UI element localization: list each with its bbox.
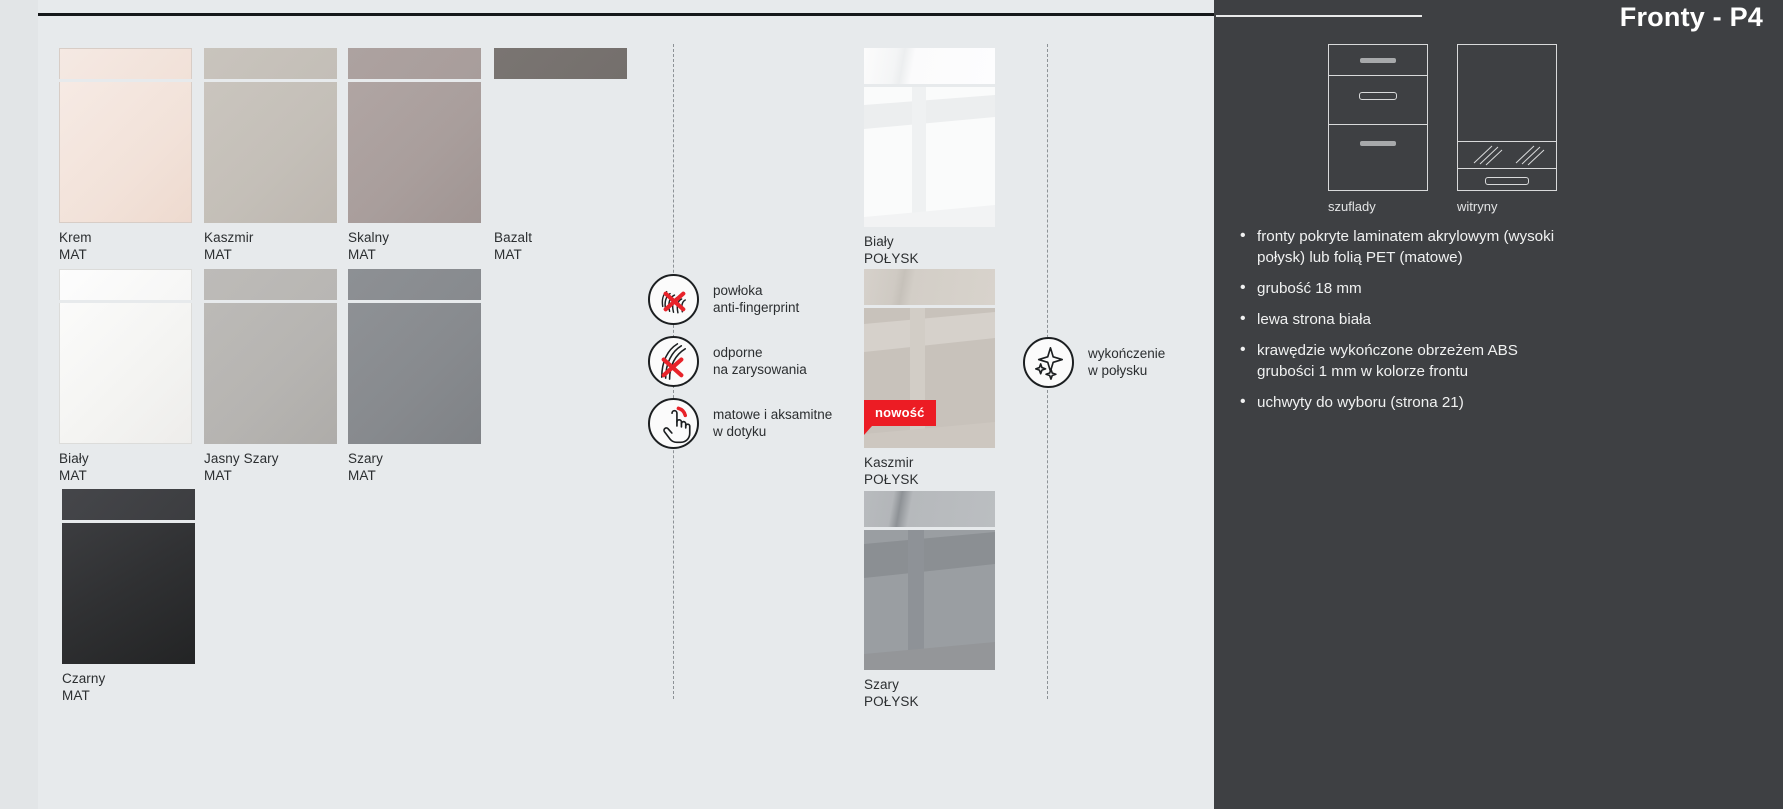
door-render: nowość [864,269,995,448]
diagram-caption: witryny [1457,199,1497,214]
glass-shine-icon [1458,141,1558,168]
drawer-front [348,269,481,300]
handle-bar-hollow [1359,92,1397,100]
swatch-caption: Krem MAT [59,230,192,263]
drawer-front [348,48,481,79]
cabinet-outline [1328,44,1428,191]
swatch-jasny-szary-mat[interactable]: Jasny Szary MAT [204,269,337,484]
door-front [62,523,195,664]
swatch-czarny-mat[interactable]: Czarny MAT [62,489,195,704]
spec-bullet-list: fronty pokryte laminatem akrylowym (wyso… [1238,226,1568,423]
swatch-caption: Jasny Szary MAT [204,451,337,484]
sparkle-icon [1023,337,1074,388]
feature-anti-fingerprint: powłoka anti-fingerprint [648,274,799,325]
door-render [864,491,995,670]
list-item: uchwyty do wyboru (strona 21) [1238,392,1568,413]
spec-list: fronty pokryte laminatem akrylowym (wyso… [1238,226,1568,413]
swatch-caption: Biały POŁYSK [864,234,995,267]
door-render [62,489,195,664]
touch-hand-icon [648,398,699,449]
swatch-caption: Skalny MAT [348,230,481,263]
swatch-szary-mat[interactable]: Szary MAT [348,269,481,484]
door-front [494,82,627,223]
feature-label: matowe i aksamitne w dotyku [713,407,832,440]
diagram-caption: szuflady [1328,199,1376,214]
swatch-bazalt-mat[interactable]: Bazalt MAT [494,48,627,263]
swatch-caption: Szary POŁYSK [864,677,995,710]
swatch-szary-polysk[interactable]: Szary POŁYSK [864,491,995,710]
drawer-front [864,48,995,84]
door-front [348,82,481,223]
swatch-krem-mat[interactable]: Krem MAT [59,48,192,263]
gloss-reflection [864,87,995,227]
door-front [864,87,995,227]
feature-label: powłoka anti-fingerprint [713,283,799,316]
list-item: grubość 18 mm [1238,278,1568,299]
list-item: fronty pokryte laminatem akrylowym (wyso… [1238,226,1568,268]
door-front [204,303,337,444]
drawer-front [59,269,192,300]
drawer-front [62,489,195,520]
door-render [348,48,481,223]
door-front [59,303,192,444]
swatch-skalny-mat[interactable]: Skalny MAT [348,48,481,263]
cabinet-outline [1457,44,1557,191]
feature-scratch-resistant: odporne na zarysowania [648,336,807,387]
door-front [864,530,995,670]
drawer-front [204,269,337,300]
drawer-split [1329,75,1427,76]
door-render [494,48,627,223]
door-render [204,48,337,223]
door-front [204,82,337,223]
handle-bar-hollow [1485,177,1529,185]
door-render [204,269,337,444]
feature-gloss-finish: wykończenie w połysku [1023,337,1165,388]
swatch-caption: Kaszmir POŁYSK [864,455,995,488]
feature-label: odporne na zarysowania [713,345,807,378]
list-item: lewa strona biała [1238,309,1568,330]
header-rule [38,13,1214,16]
drawer-front [864,269,995,305]
swatch-caption: Szary MAT [348,451,481,484]
drawer-front [864,491,995,527]
drawer-front [494,48,627,79]
swatch-bialy-polysk[interactable]: Biały POŁYSK [864,48,995,267]
swatch-caption: Czarny MAT [62,671,195,704]
door-render [864,48,995,227]
fingerprint-crossed-icon [648,274,699,325]
diagram-szuflady: szuflady [1328,44,1428,191]
swatch-kaszmir-mat[interactable]: Kaszmir MAT [204,48,337,263]
diagram-witryny: witryny [1457,44,1557,191]
door-front [59,82,192,223]
door-render [59,48,192,223]
gloss-reflection [864,530,995,670]
list-item: krawędzie wykończone obrzeżem ABS gruboś… [1238,340,1568,382]
door-render [348,269,481,444]
drawer-split [1329,124,1427,125]
panel-rule [1216,15,1422,17]
swatch-caption: Biały MAT [59,451,192,484]
drawer-front [204,48,337,79]
swatch-caption: Bazalt MAT [494,230,627,263]
feature-label: wykończenie w połysku [1088,346,1165,379]
scratch-crossed-icon [648,336,699,387]
gloss-reflection [864,308,995,448]
door-front [864,308,995,448]
drawer-front [59,48,192,79]
handle-bar [1360,58,1396,63]
page-root: Krem MAT Kaszmir MAT Skalny MAT Bazalt M… [0,0,1783,809]
door-front [348,303,481,444]
page-title: Fronty - P4 [1620,2,1763,33]
handle-bar [1360,141,1396,146]
swatch-bialy-mat[interactable]: Biały MAT [59,269,192,484]
door-render [59,269,192,444]
swatch-kaszmir-polysk[interactable]: nowość Kaszmir POŁYSK [864,269,995,488]
feature-matte-velvety: matowe i aksamitne w dotyku [648,398,832,449]
swatch-caption: Kaszmir MAT [204,230,337,263]
status-badge-nowosc: nowość [864,400,936,426]
glass-split [1458,168,1556,169]
